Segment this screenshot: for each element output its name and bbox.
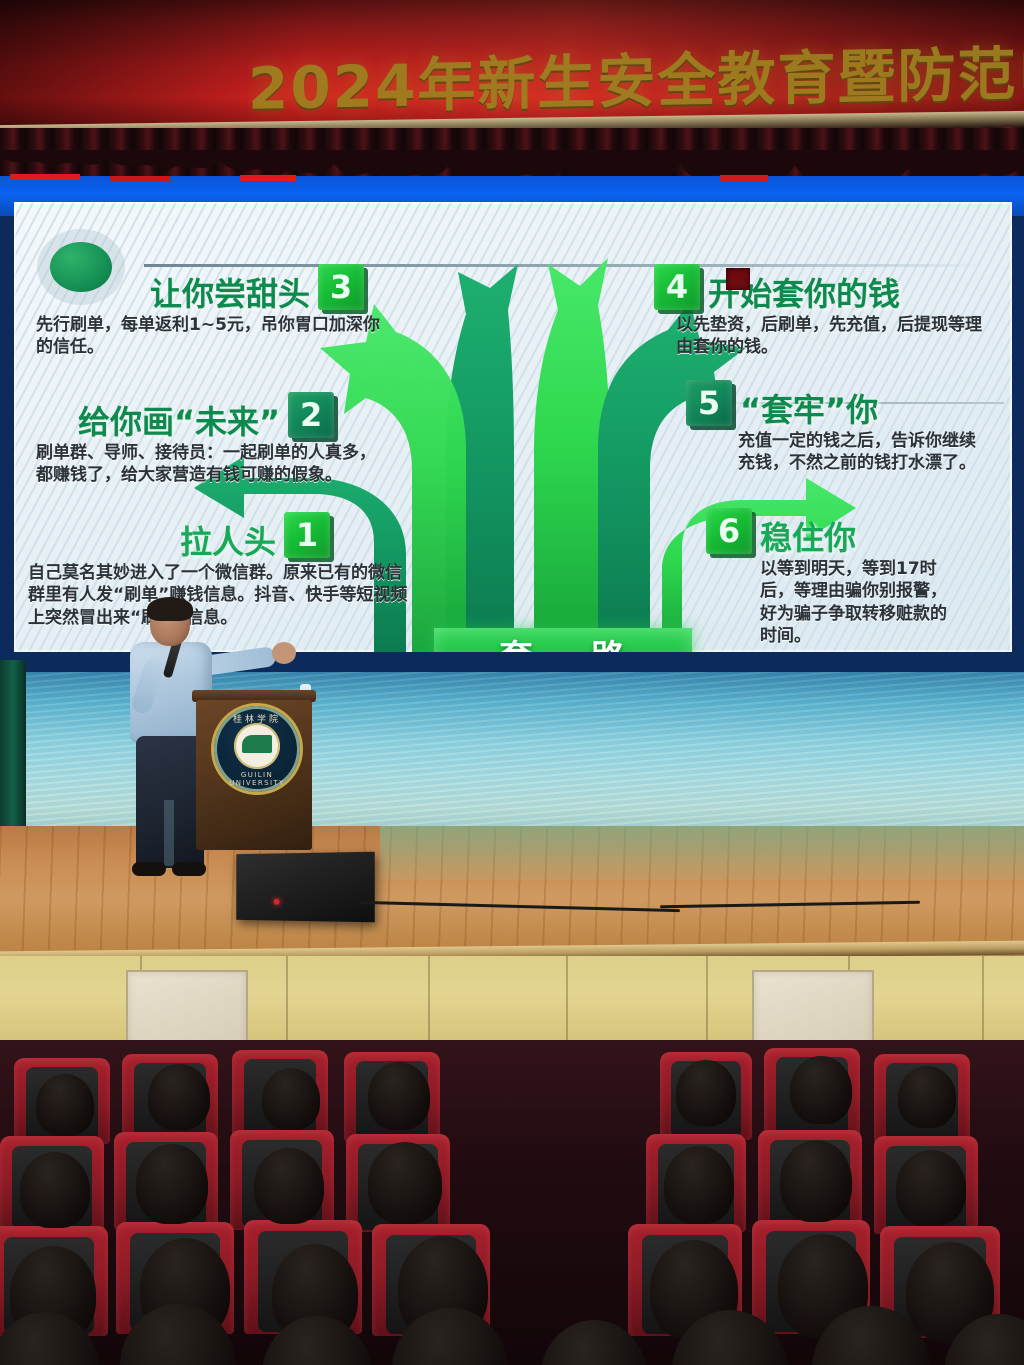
step-6-number: 6 — [706, 508, 752, 554]
floor-light-wash — [380, 826, 1024, 880]
step-4-number: 4 — [654, 264, 700, 310]
step-5-title: “套牢”你 — [740, 394, 878, 426]
presenter-hand — [272, 642, 296, 664]
step-3-body: 先行刷单，每单返利1~5元，吊你胃口加深你的信任。 — [36, 314, 396, 359]
slide-step-5: 5 “套牢”你 充值一定的钱之后，告诉你继续充钱，不然之前的钱打水漂了。 — [686, 380, 1006, 475]
audience-member — [676, 1060, 736, 1126]
step-2-title: 给你画“未来” — [78, 406, 280, 438]
slide-step-6: 6 稳住你 以等到明天，等到17时后，等理由骗你别报警，好为骗子争取转移赃款的时… — [706, 508, 1006, 648]
audience-member — [664, 1146, 734, 1224]
presentation-slide: 套 路 让你尝甜头 3 先行刷单，每单返利1~5元，吊你胃口加深你的信任。 给你… — [14, 202, 1012, 652]
lectern: 桂林学院 GUILIN UNIVERSITY — [196, 690, 312, 855]
emblem-english-name: GUILIN UNIVERSITY — [214, 771, 300, 787]
laser-pointer-dot-icon — [726, 268, 750, 290]
stage-vent-left — [126, 970, 248, 1050]
university-emblem: 桂林学院 GUILIN UNIVERSITY — [214, 706, 300, 792]
base-label-left: 套 — [499, 630, 535, 653]
step-4-body: 以先垫资，后刷单，先充值，后提现等理由套你的钱。 — [676, 314, 996, 359]
audience-member — [254, 1148, 324, 1224]
slide-step-3: 让你尝甜头 3 先行刷单，每单返利1~5元，吊你胃口加深你的信任。 — [36, 264, 436, 359]
audience-member — [20, 1152, 90, 1228]
step-1-number: 1 — [284, 512, 330, 558]
stage-vent-right — [752, 970, 874, 1050]
audience-member — [896, 1150, 966, 1226]
step-5-number: 5 — [686, 380, 732, 426]
audience-member — [368, 1062, 430, 1130]
led-red-fleck-icon — [0, 172, 1024, 182]
emblem-inner-disc — [234, 723, 280, 769]
stage-monitor-speaker — [236, 852, 374, 923]
step-6-title: 稳住你 — [760, 522, 856, 554]
step-6-body: 以等到明天，等到17时后，等理由骗你别报警，好为骗子争取转移赃款的时间。 — [760, 558, 960, 648]
slide-step-4: 4 开始套你的钱 以先垫资，后刷单，先充值，后提现等理由套你的钱。 — [654, 264, 1004, 359]
auditorium-photo: 2024年新生安全教育暨防范电信网 — [0, 0, 1024, 1365]
base-label-right: 路 — [591, 630, 627, 653]
step-1-title: 拉人头 — [180, 526, 276, 558]
audience-member — [898, 1066, 956, 1128]
presenter-shoe-left — [132, 862, 166, 876]
step-5-body: 充值一定的钱之后，告诉你继续充钱，不然之前的钱打水漂了。 — [738, 430, 978, 475]
lectern-body: 桂林学院 GUILIN UNIVERSITY — [196, 700, 312, 850]
step-2-number: 2 — [288, 392, 334, 438]
audience-member — [136, 1144, 208, 1224]
base-label-bar: 套 路 — [434, 628, 692, 652]
audience-member — [148, 1064, 210, 1130]
presenter-hair — [147, 597, 193, 621]
audience-member — [790, 1056, 852, 1124]
presenter-shoe-right — [172, 862, 206, 876]
event-banner-text: 2024年新生安全教育暨防范电信网 — [248, 26, 1024, 126]
step-3-number: 3 — [318, 264, 364, 310]
emblem-mountain-icon — [242, 735, 272, 753]
audience-member — [368, 1142, 442, 1224]
audience-member — [36, 1074, 94, 1136]
speaker-power-led-icon — [274, 899, 280, 905]
slide-step-2: 给你画“未来” 2 刷单群、导师、接待员：一起刷单的人真多，都赚钱了，给大家营造… — [36, 392, 406, 487]
step-3-title: 让你尝甜头 — [150, 278, 310, 310]
audience-member — [262, 1068, 320, 1130]
step-2-body: 刷单群、导师、接待员：一起刷单的人真多，都赚钱了，给大家营造有钱可赚的假象。 — [36, 442, 388, 487]
audience-area — [0, 1040, 1024, 1365]
presenter-leg-gap — [164, 800, 174, 866]
audience-member — [780, 1140, 852, 1222]
